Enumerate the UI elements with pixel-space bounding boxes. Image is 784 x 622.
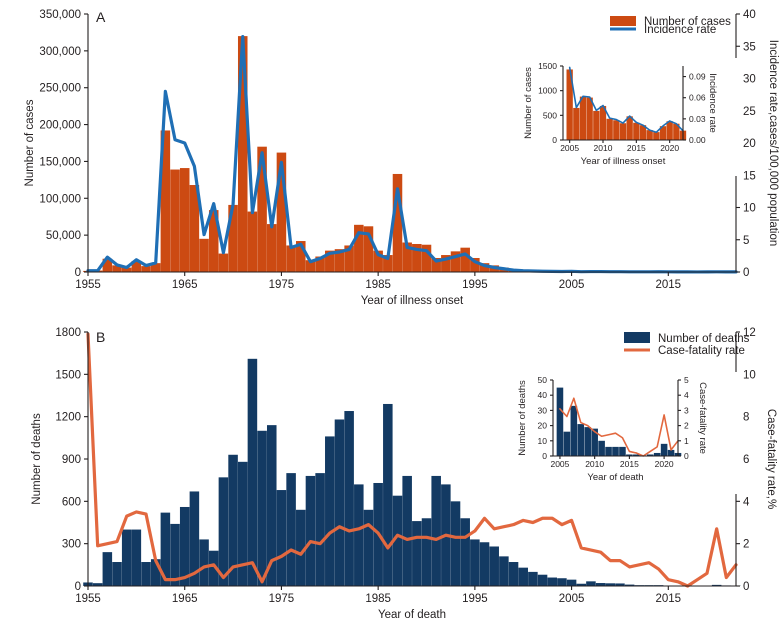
panel-b: 0300600900120015001800024681012195519651… (0, 310, 784, 622)
bar (668, 450, 675, 456)
y-tick-label: 250,000 (39, 83, 81, 95)
y2-tick-label: 2 (684, 421, 689, 431)
bar (451, 501, 461, 586)
x-tick-label: 2005 (559, 593, 585, 605)
x-tick-label: 2015 (620, 459, 639, 469)
bar (593, 111, 599, 140)
y2-tick-label: 10 (743, 203, 756, 215)
bar (538, 575, 548, 586)
y-tick-label: 1500 (55, 369, 81, 381)
x-axis-title: Year of death (378, 609, 446, 621)
bar (667, 121, 673, 140)
y2-tick-label: 2 (743, 539, 749, 551)
bar (586, 581, 596, 586)
bar (412, 521, 422, 586)
panel-a-svg: 050,000100,000150,000200,000250,000300,0… (0, 0, 784, 310)
bar (354, 484, 364, 586)
bar (557, 388, 564, 456)
bar (199, 539, 209, 586)
y-tick-label: 1200 (55, 412, 81, 424)
x-tick-label: 1965 (172, 593, 198, 605)
y-tick-label: 100,000 (39, 193, 81, 205)
bar (661, 444, 668, 456)
bar (248, 212, 258, 272)
bar (607, 119, 613, 140)
bar (620, 123, 626, 140)
bar (402, 476, 412, 586)
x-tick-label: 2005 (559, 279, 585, 291)
y2-tick-label: 5 (743, 235, 749, 247)
y2-tick-label: 10 (743, 369, 756, 381)
bar (277, 490, 287, 586)
bar (257, 431, 267, 586)
bar (567, 580, 577, 586)
x-tick-label: 2005 (550, 459, 569, 469)
y2-tick-label: 40 (743, 9, 756, 21)
panel-a-inset: 0500100015000.000.030.060.09200520102015… (498, 58, 742, 176)
y2-tick-label: 0.03 (689, 114, 706, 124)
y-tick-label: 30 (538, 405, 548, 415)
y-tick-label: 1500 (538, 61, 557, 71)
x-axis-title: Year of illness onset (361, 295, 464, 307)
bar (571, 406, 578, 456)
bar (422, 518, 432, 586)
y-tick-label: 200,000 (39, 120, 81, 132)
y2-tick-label: 0 (743, 581, 749, 593)
bar (499, 556, 509, 586)
right-axis-title: Incidence rate,cases/100,000 population (767, 40, 779, 247)
bar (170, 524, 180, 586)
bar (219, 477, 229, 586)
right-axis-title: Case-fatality rate,% (765, 409, 777, 509)
panel-letter-a: A (96, 9, 106, 25)
x-tick-label: 1985 (365, 593, 391, 605)
bar (612, 447, 619, 456)
y-tick-label: 50,000 (46, 230, 81, 242)
x-tick-label: 1995 (462, 593, 488, 605)
y-tick-label: 300 (62, 539, 81, 551)
y2-tick-label: 0 (743, 267, 749, 279)
figure-root: 050,000100,000150,000200,000250,000300,0… (0, 0, 784, 622)
bar (286, 473, 296, 586)
y2-tick-label: 5 (684, 375, 689, 385)
y-tick-label: 300,000 (39, 46, 81, 58)
panel-b-inset: 010203040500123452005201020152020Year of… (492, 372, 742, 494)
y2-tick-label: 0 (684, 451, 689, 461)
bar (364, 510, 374, 586)
bar (344, 411, 354, 586)
bar (587, 98, 593, 140)
bar (627, 116, 633, 140)
bar (238, 462, 248, 586)
bar (598, 441, 605, 456)
bar (112, 562, 122, 586)
bar (619, 447, 626, 456)
legend-swatch-deaths (624, 332, 650, 343)
y-tick-label: 1000 (538, 86, 557, 96)
bar (219, 254, 229, 272)
right-axis-title: Incidence rate (707, 73, 718, 133)
y-tick-label: 350,000 (39, 9, 81, 21)
bar (248, 359, 258, 586)
bar (633, 123, 639, 140)
y2-tick-label: 15 (743, 170, 756, 182)
bar (580, 97, 586, 140)
bar (509, 562, 519, 586)
x-tick-label: 2010 (585, 459, 604, 469)
x-tick-label: 2020 (655, 459, 674, 469)
bar (141, 562, 151, 586)
bar (180, 168, 190, 272)
y2-tick-label: 0.06 (689, 93, 706, 103)
bar (132, 530, 142, 586)
bar (383, 404, 393, 586)
x-tick-label: 2015 (627, 143, 646, 153)
legend-label-deaths: Number of deaths (658, 333, 750, 345)
x-tick-label: 1985 (365, 279, 391, 291)
bar (315, 473, 325, 586)
y-tick-label: 0 (75, 581, 81, 593)
y2-tick-label: 0.00 (689, 135, 706, 145)
y2-tick-label: 4 (684, 390, 689, 400)
bar (547, 578, 557, 586)
bar (180, 507, 190, 586)
x-tick-label: 2015 (656, 279, 682, 291)
bar (170, 170, 180, 272)
left-axis-title: Number of cases (24, 99, 36, 186)
y2-tick-label: 4 (743, 496, 750, 508)
bar (573, 108, 579, 140)
bar (199, 239, 209, 272)
y-tick-label: 50 (538, 375, 548, 385)
bar (286, 245, 296, 272)
bar (480, 542, 490, 586)
y2-tick-label: 3 (684, 405, 689, 415)
x-tick-label: 2010 (594, 143, 613, 153)
y-tick-label: 0 (542, 451, 547, 461)
right-axis-title: Case-fatality rate (697, 382, 708, 454)
y-tick-label: 0 (75, 267, 81, 279)
y-tick-label: 900 (62, 454, 81, 466)
bar (431, 476, 441, 586)
bar (528, 572, 538, 586)
bar (335, 419, 345, 586)
bar (653, 132, 659, 140)
bar (460, 248, 470, 272)
left-axis-title: Number of deaths (517, 380, 528, 456)
bar (518, 568, 528, 586)
bar (489, 546, 499, 586)
y2-tick-label: 25 (743, 106, 756, 118)
bar (584, 427, 591, 456)
y-tick-label: 600 (62, 496, 81, 508)
x-axis-title: Year of death (587, 472, 643, 483)
x-tick-label: 1955 (75, 279, 101, 291)
y2-tick-label: 6 (743, 454, 749, 466)
bar (460, 518, 470, 586)
bar (325, 436, 335, 586)
left-axis-title: Number of cases (523, 67, 534, 139)
panel-letter-b: B (96, 329, 105, 345)
panel-b-svg: 0300600900120015001800024681012195519651… (0, 310, 784, 622)
bar (613, 120, 619, 140)
y-tick-label: 500 (543, 110, 557, 120)
x-tick-label: 2005 (560, 143, 579, 153)
y2-tick-label: 35 (743, 41, 756, 53)
legend-label-incidence: Incidence rate (644, 24, 716, 36)
x-tick-label: 1965 (172, 279, 198, 291)
bar (122, 530, 132, 586)
panel-b-legend: Number of deathsCase-fatality rate (624, 332, 750, 357)
y-tick-label: 1800 (55, 327, 81, 339)
y-tick-label: 20 (538, 421, 548, 431)
x-tick-label: 1975 (269, 279, 295, 291)
y2-tick-label: 30 (743, 74, 756, 86)
y-tick-label: 10 (538, 436, 548, 446)
bar (605, 447, 612, 456)
panel-a: 050,000100,000150,000200,000250,000300,0… (0, 0, 784, 310)
x-tick-label: 2020 (660, 143, 679, 153)
bar (577, 424, 584, 456)
x-axis-title: Year of illness onset (581, 156, 666, 167)
y2-tick-label: 0.09 (689, 72, 706, 82)
y-tick-label: 150,000 (39, 156, 81, 168)
x-tick-label: 1975 (269, 593, 295, 605)
x-tick-label: 1955 (75, 593, 101, 605)
y2-tick-label: 1 (684, 436, 689, 446)
left-axis-title: Number of deaths (31, 413, 43, 505)
y2-tick-label: 8 (743, 412, 749, 424)
x-tick-label: 1995 (462, 279, 488, 291)
bar (306, 476, 316, 586)
bar (557, 578, 567, 586)
y2-tick-label: 20 (743, 138, 756, 150)
legend-label-cfr: Case-fatality rate (658, 345, 745, 357)
y-tick-label: 0 (552, 135, 557, 145)
y-tick-label: 40 (538, 390, 548, 400)
bar (470, 539, 480, 586)
x-tick-label: 2015 (656, 593, 682, 605)
panel-a-legend: Number of casesIncidence rate (610, 16, 731, 36)
bar (564, 432, 571, 456)
bar (103, 552, 113, 586)
legend-swatch-cases (610, 16, 636, 26)
bar (267, 224, 277, 272)
